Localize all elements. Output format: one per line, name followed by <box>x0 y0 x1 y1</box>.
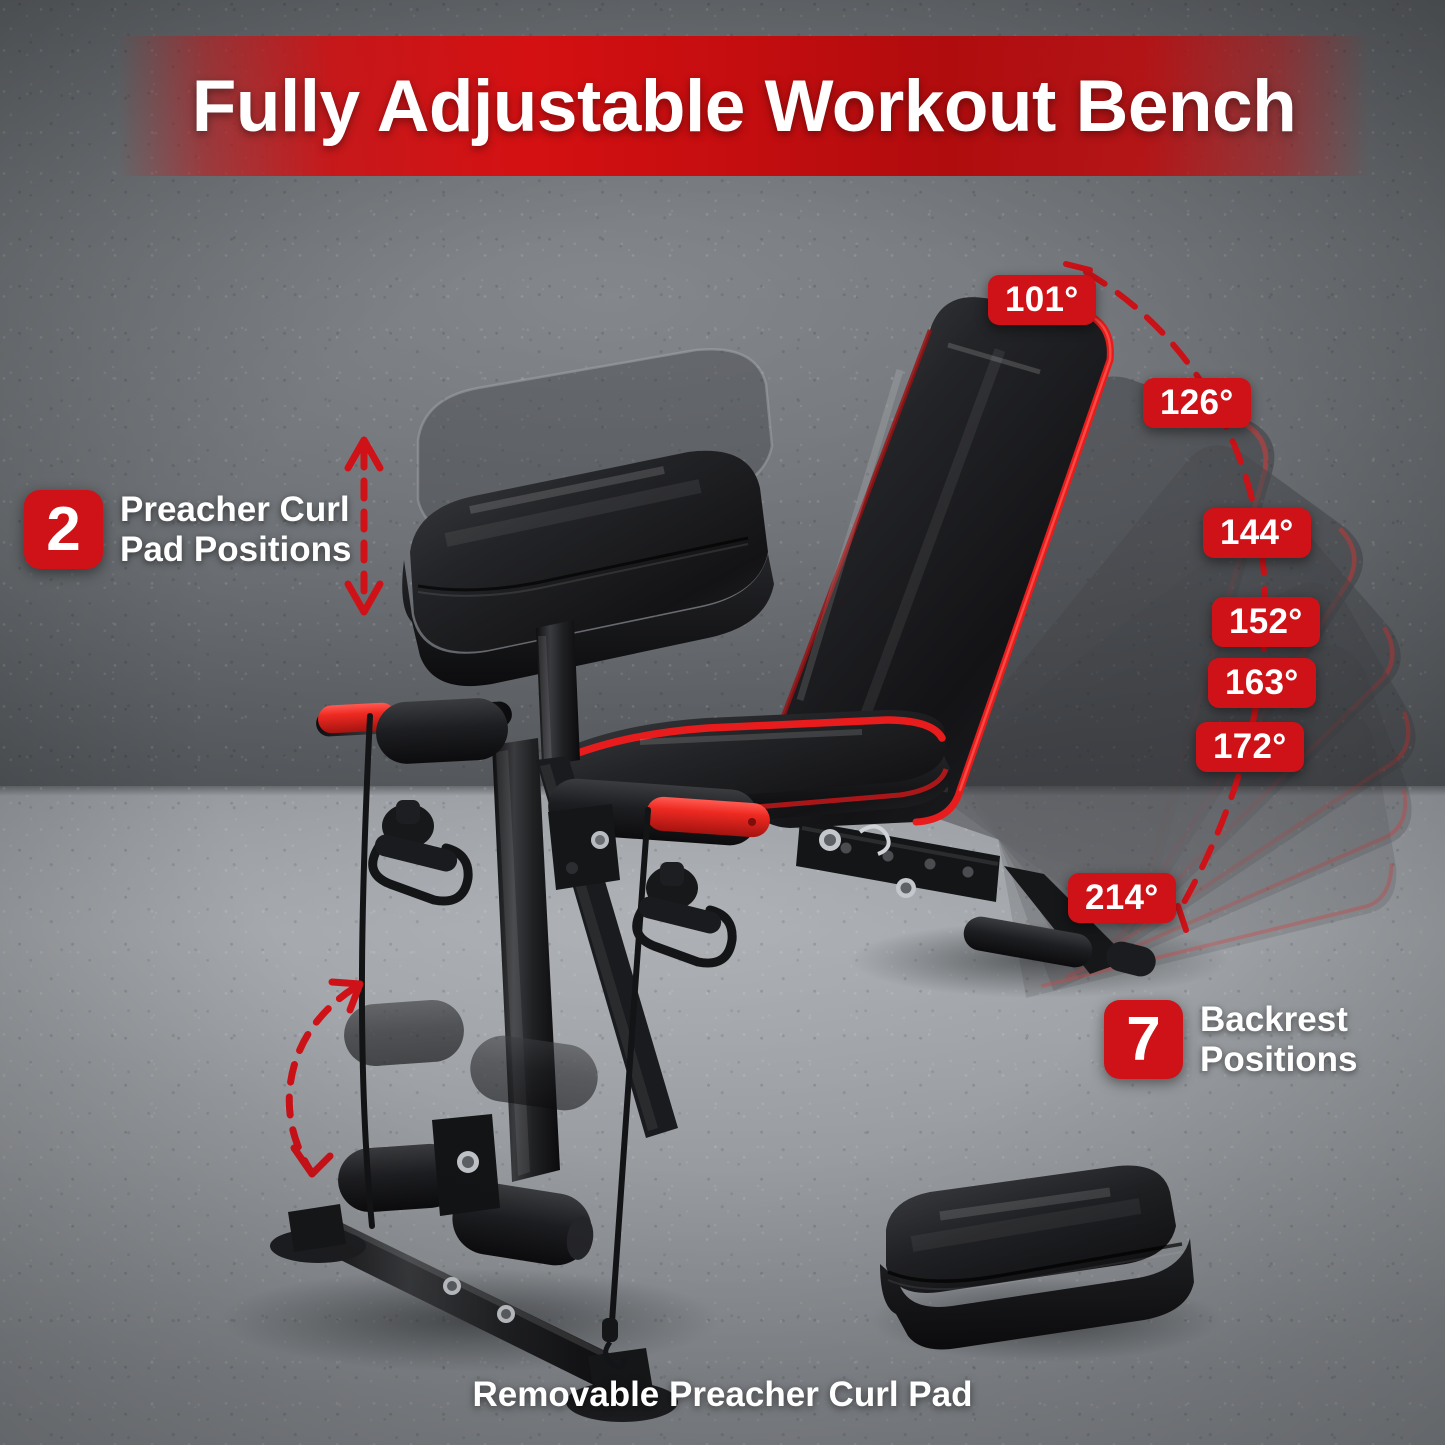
preacher-post <box>536 620 580 766</box>
adjustment-ladder <box>796 820 1000 902</box>
band-handle-left <box>373 800 469 901</box>
foam-pad-left <box>374 697 509 766</box>
angle-badge-101: 101° <box>988 275 1096 325</box>
angle-badge-163: 163° <box>1208 658 1316 708</box>
feature-backrest-positions: 7 Backrest Positions <box>1104 1000 1358 1079</box>
angle-badge-152: 152° <box>1212 597 1320 647</box>
band-handle-right <box>637 862 733 963</box>
preacher-pad-arrow-annotation <box>348 440 380 612</box>
leg-roller-arrow-annotation <box>289 982 360 1174</box>
page-title: Fully Adjustable Workout Bench <box>118 36 1370 176</box>
angle-badge-126: 126° <box>1143 378 1251 428</box>
seat-bracket <box>548 804 620 890</box>
angle-badge-144: 144° <box>1203 508 1311 558</box>
left-handle-assembly <box>315 697 512 766</box>
feature-preacher-curl-positions: 2 Preacher Curl Pad Positions <box>24 490 351 569</box>
leg-rollers <box>336 998 602 1271</box>
feature-count-2: 2 <box>24 490 103 569</box>
angle-badge-172: 172° <box>1196 722 1304 772</box>
feature-caption-preacher: Preacher Curl Pad Positions <box>120 490 351 568</box>
angle-badge-214: 214° <box>1068 873 1176 923</box>
feature-caption-backrest: Backrest Positions <box>1200 1000 1358 1078</box>
removable-pad-caption: Removable Preacher Curl Pad <box>0 1375 1445 1415</box>
product-infographic: Fully Adjustable Workout Bench 101° 126°… <box>0 0 1445 1445</box>
feature-count-7: 7 <box>1104 1000 1183 1079</box>
